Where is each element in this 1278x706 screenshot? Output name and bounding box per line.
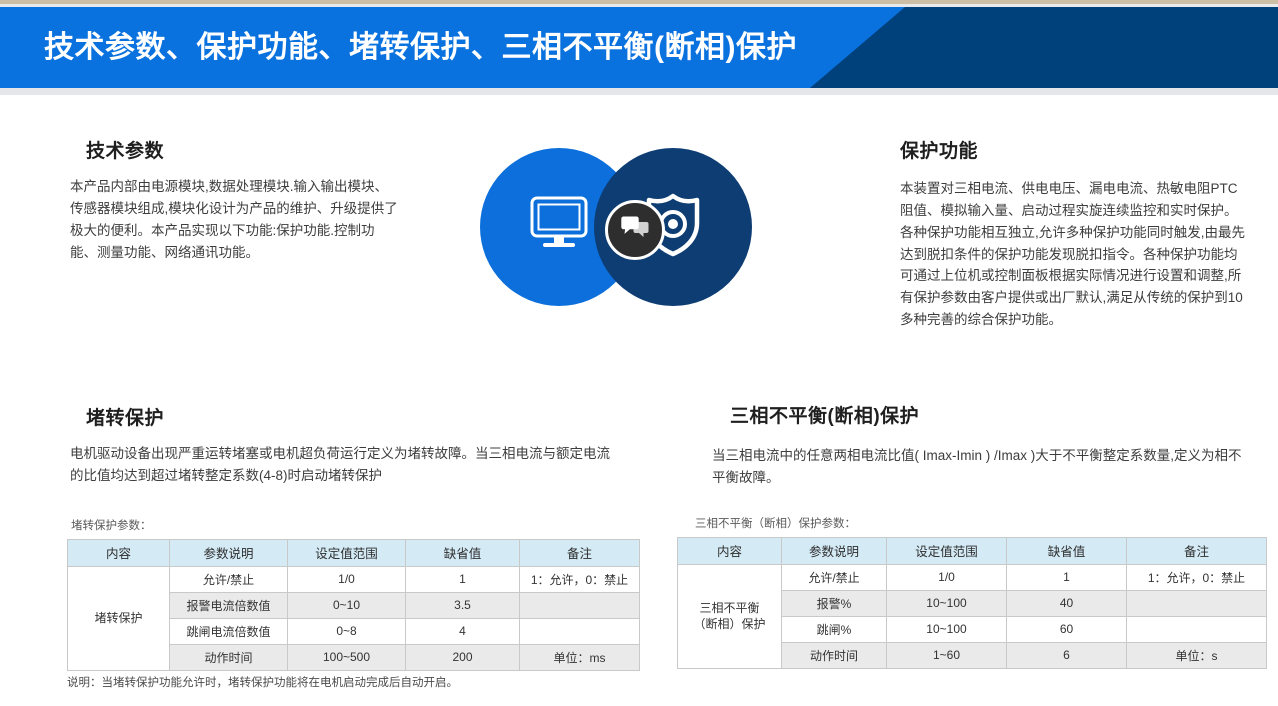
table-header-row: 内容 参数说明 设定值范围 缺省值 备注: [678, 537, 1267, 564]
slide-root: 技术参数、保护功能、堵转保护、三相不平衡(断相)保护 技术参数 本产品内部由电源…: [0, 0, 1278, 706]
heading-stall-protection: 堵转保护: [86, 408, 164, 431]
cell-note: 1：允许，0：禁止: [520, 566, 640, 592]
cell-param: 跳闸%: [782, 616, 887, 642]
cell-param: 动作时间: [782, 642, 887, 668]
col-header-param: 参数说明: [170, 539, 288, 566]
cell-param: 允许/禁止: [170, 566, 288, 592]
unbalance-group-label: 三相不平衡 （断相）保护: [678, 564, 782, 668]
cell-param: 报警%: [782, 590, 887, 616]
unbalance-table-caption: 三相不平衡（断相）保护参数：: [695, 519, 1267, 531]
col-header-param: 参数说明: [782, 537, 887, 564]
unbalance-table-block: 三相不平衡（断相）保护参数： 内容 参数说明 设定值范围 缺省值 备注 三相不平…: [677, 519, 1267, 669]
cell-default: 200: [406, 644, 520, 670]
center-graphic: [480, 148, 780, 308]
unbalance-group-label-line1: 三相不平衡: [678, 600, 781, 616]
col-header-range: 设定值范围: [887, 537, 1007, 564]
cell-note: 单位：s: [1127, 642, 1267, 668]
cell-range: 0~10: [288, 592, 406, 618]
monitor-icon: [527, 195, 591, 260]
col-header-default: 缺省值: [1007, 537, 1127, 564]
stall-group-label: 堵转保护: [68, 566, 170, 670]
cell-param: 动作时间: [170, 644, 288, 670]
body-unbalance-protection: 当三相电流中的任意两相电流比值( Imax-Imin ) /Imax )大于不平…: [712, 445, 1252, 489]
cell-note: [1127, 616, 1267, 642]
cell-default: 40: [1007, 590, 1127, 616]
cell-default: 1: [1007, 564, 1127, 590]
col-header-default: 缺省值: [406, 539, 520, 566]
cell-range: 0~8: [288, 618, 406, 644]
page-title: 技术参数、保护功能、堵转保护、三相不平衡(断相)保护: [44, 33, 797, 63]
stall-param-table: 内容 参数说明 设定值范围 缺省值 备注 堵转保护 允许/禁止 1/0 1 1：…: [67, 539, 640, 671]
table-header-row: 内容 参数说明 设定值范围 缺省值 备注: [68, 539, 640, 566]
body-protection-func: 本装置对三相电流、供电电压、漏电电流、热敏电阻PTC阻值、模拟输入量、启动过程实…: [900, 178, 1245, 331]
heading-protection-func: 保护功能: [900, 141, 978, 164]
cell-default: 1: [406, 566, 520, 592]
col-header-content: 内容: [678, 537, 782, 564]
col-header-note: 备注: [520, 539, 640, 566]
col-header-note: 备注: [1127, 537, 1267, 564]
heading-tech-params: 技术参数: [86, 141, 164, 164]
cell-default: 4: [406, 618, 520, 644]
body-stall-protection: 电机驱动设备出现严重运转堵塞或电机超负荷运行定义为堵转故障。当三相电流与额定电流…: [70, 443, 615, 487]
col-header-range: 设定值范围: [288, 539, 406, 566]
table-row: 堵转保护 允许/禁止 1/0 1 1：允许，0：禁止: [68, 566, 640, 592]
table-row: 三相不平衡 （断相）保护 允许/禁止 1/0 1 1：允许，0：禁止: [678, 564, 1267, 590]
cell-range: 1/0: [288, 566, 406, 592]
stall-table-caption: 堵转保护参数：: [71, 521, 640, 533]
cell-note: 1：允许，0：禁止: [1127, 564, 1267, 590]
stall-table-block: 堵转保护参数： 内容 参数说明 设定值范围 缺省值 备注 堵转保护 允许/禁止 …: [67, 521, 640, 689]
heading-unbalance-protection: 三相不平衡(断相)保护: [730, 406, 919, 429]
cell-default: 6: [1007, 642, 1127, 668]
cell-param: 报警电流倍数值: [170, 592, 288, 618]
cell-default: 3.5: [406, 592, 520, 618]
unbalance-group-label-line2: （断相）保护: [678, 616, 781, 632]
stall-table-footnote: 说明：当堵转保护功能允许时，堵转保护功能将在电机启动完成后自动开启。: [67, 678, 640, 690]
header-shadow-strip: [0, 88, 1278, 95]
cell-note: [1127, 590, 1267, 616]
cell-range: 10~100: [887, 590, 1007, 616]
cell-param: 跳闸电流倍数值: [170, 618, 288, 644]
cell-note: 单位：ms: [520, 644, 640, 670]
col-header-content: 内容: [68, 539, 170, 566]
chat-bubbles-icon: [620, 215, 650, 246]
cell-default: 60: [1007, 616, 1127, 642]
cell-range: 1/0: [887, 564, 1007, 590]
body-tech-params: 本产品内部由电源模块,数据处理模块.输入输出模块、传感器模块组成,模块化设计为产…: [70, 176, 400, 263]
cell-range: 1~60: [887, 642, 1007, 668]
cell-range: 10~100: [887, 616, 1007, 642]
cell-note: [520, 618, 640, 644]
cell-note: [520, 592, 640, 618]
cell-range: 100~500: [288, 644, 406, 670]
badge-chat: [605, 200, 665, 260]
cell-param: 允许/禁止: [782, 564, 887, 590]
unbalance-param-table: 内容 参数说明 设定值范围 缺省值 备注 三相不平衡 （断相）保护 允许/禁止 …: [677, 537, 1267, 669]
header-banner: 技术参数、保护功能、堵转保护、三相不平衡(断相)保护: [0, 7, 905, 88]
